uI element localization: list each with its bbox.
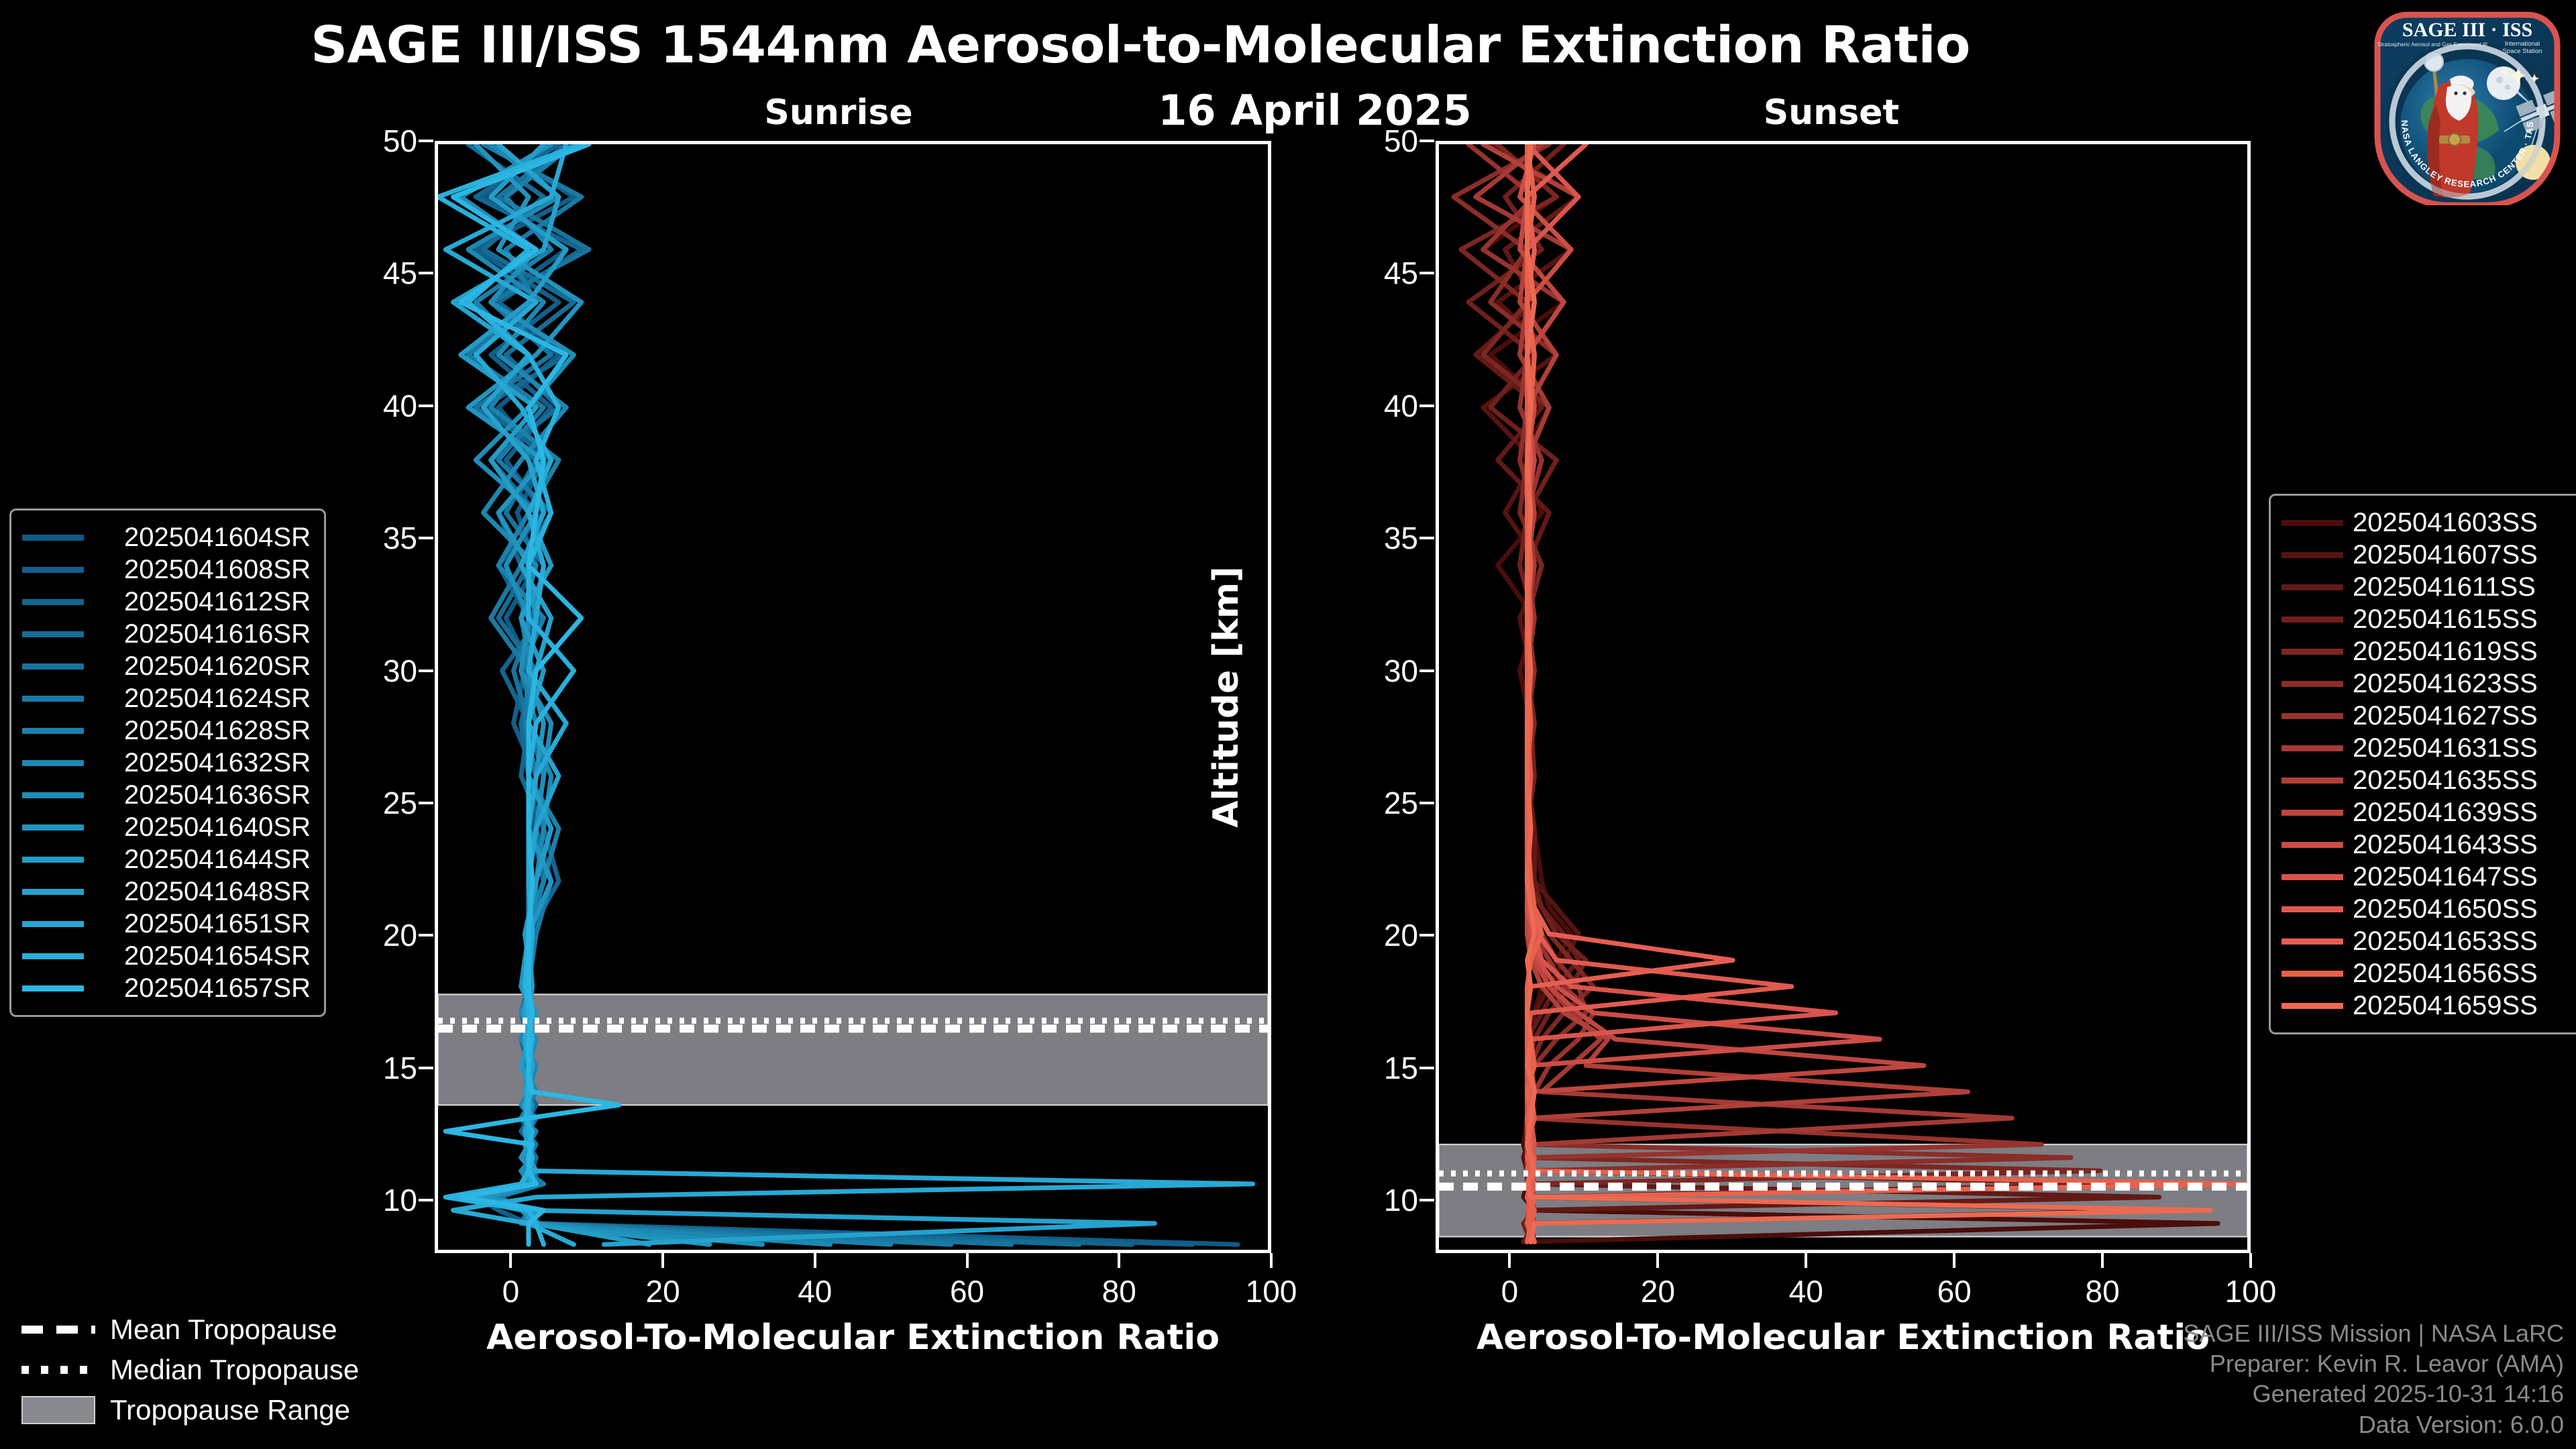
ytick-mark: [1419, 405, 1434, 407]
legend-item-label: 2025041654SR: [84, 941, 311, 971]
xtick-label: 40: [1789, 1273, 1823, 1309]
ytick-label: 20: [383, 917, 417, 953]
legend-row-median-tropopause: Median Tropopause: [11, 1350, 386, 1390]
legend-item[interactable]: 2025041656SS: [2282, 957, 2576, 989]
xtick-mark: [509, 1253, 512, 1268]
legend-item[interactable]: 2025041619SS: [2282, 635, 2576, 667]
legend-item[interactable]: 2025041653SS: [2282, 925, 2576, 957]
legend-item[interactable]: 2025041607SS: [2282, 539, 2576, 571]
legend-item-label: 2025041627SS: [2343, 701, 2576, 731]
legend-item[interactable]: 2025041604SR: [22, 521, 311, 553]
ytick-mark: [1419, 934, 1434, 936]
legend-item-label: 2025041635SS: [2343, 765, 2576, 796]
legend-item-label: 2025041656SS: [2343, 959, 2576, 989]
legend-color-swatch: [2282, 713, 2343, 719]
xtick-mark: [814, 1253, 816, 1268]
legend-color-swatch: [22, 631, 84, 637]
legend-item[interactable]: 2025041639SS: [2282, 796, 2576, 828]
legend-label-median-tropopause: Median Tropopause: [95, 1354, 359, 1386]
legend-item[interactable]: 2025041627SS: [2282, 700, 2576, 732]
legend-item-label: 2025041623SS: [2343, 669, 2576, 699]
legend-item[interactable]: 2025041647SS: [2282, 861, 2576, 893]
xtick-label: 100: [2225, 1273, 2277, 1309]
xtick-label: 80: [2085, 1273, 2119, 1309]
legend-item[interactable]: 2025041632SR: [22, 747, 311, 779]
legend-sunset[interactable]: 2025041603SS2025041607SS2025041611SS2025…: [2269, 494, 2576, 1034]
xtick-mark: [1656, 1253, 1659, 1268]
sage-iii-iss-mission-patch-logo: SAGE III · ISS Stratospheric Aerosol and…: [2367, 4, 2568, 205]
ytick-label: 25: [1384, 785, 1418, 821]
xtick-mark: [1805, 1253, 1807, 1268]
dashed-line-icon: [21, 1320, 95, 1340]
legend-item[interactable]: 2025041651SR: [22, 908, 311, 940]
series-line: [1476, 144, 2189, 1242]
legend-item[interactable]: 2025041636SR: [22, 779, 311, 811]
legend-item-label: 2025041624SR: [84, 684, 311, 714]
ytick-mark: [1419, 272, 1434, 274]
series-line: [1527, 144, 2247, 1242]
legend-color-swatch: [22, 696, 84, 702]
ytick-mark: [1419, 669, 1434, 672]
logo-subtitle-right-2: Space Station: [2502, 48, 2542, 55]
legend-item[interactable]: 2025041654SR: [22, 940, 311, 972]
legend-item-label: 2025041611SS: [2343, 572, 2576, 602]
legend-item[interactable]: 2025041659SS: [2282, 989, 2576, 1022]
xaxis-title-sunset: Aerosol-To-Molecular Extinction Ratio: [1436, 1318, 2251, 1358]
ytick-mark: [1419, 140, 1434, 142]
legend-color-swatch: [2282, 649, 2343, 655]
legend-color-swatch: [22, 728, 84, 734]
series-line: [1476, 144, 2159, 1242]
legend-item-label: 2025041603SS: [2343, 508, 2576, 538]
legend-color-swatch: [2282, 681, 2343, 687]
ytick-mark: [1419, 802, 1434, 804]
ytick-mark: [419, 1067, 433, 1069]
ytick-label: 30: [383, 653, 417, 689]
xtick-mark: [2249, 1253, 2252, 1268]
legend-color-swatch: [2282, 520, 2343, 526]
xtick-label: 20: [645, 1273, 680, 1309]
xtick-label: 20: [1641, 1273, 1675, 1309]
legend-item[interactable]: 2025041616SR: [22, 618, 311, 650]
legend-color-swatch: [22, 953, 84, 959]
legend-sunrise[interactable]: 2025041604SR2025041608SR2025041612SR2025…: [9, 508, 326, 1017]
plot-canvas-sunset: [1439, 144, 2247, 1250]
legend-item-label: 2025041640SR: [84, 812, 311, 843]
legend-item[interactable]: 2025041631SS: [2282, 732, 2576, 764]
legend-item-label: 2025041639SS: [2343, 798, 2576, 828]
ytick-label: 15: [383, 1050, 417, 1086]
plot-frame-sunrise: [435, 141, 1271, 1253]
ytick-label: 30: [1384, 653, 1418, 689]
legend-color-swatch: [22, 824, 84, 830]
legend-color-swatch: [22, 857, 84, 863]
xtick-mark: [1270, 1253, 1273, 1268]
xtick-label: 0: [502, 1273, 520, 1309]
legend-item-label: 2025041612SR: [84, 587, 311, 617]
ytick-mark: [419, 537, 433, 539]
legend-color-swatch: [22, 760, 84, 766]
legend-item[interactable]: 2025041624SR: [22, 682, 311, 714]
legend-label-tropopause-range: Tropopause Range: [95, 1394, 350, 1426]
legend-item[interactable]: 2025041644SR: [22, 843, 311, 875]
legend-color-swatch: [2282, 584, 2343, 590]
legend-item[interactable]: 2025041623SS: [2282, 667, 2576, 700]
legend-color-swatch: [22, 792, 84, 798]
legend-color-swatch: [2282, 777, 2343, 784]
page-title: SAGE III/ISS 1544nm Aerosol-to-Molecular…: [0, 15, 2281, 74]
ytick-mark: [1419, 537, 1434, 539]
legend-item-label: 2025041644SR: [84, 845, 311, 875]
xtick-mark: [1508, 1253, 1511, 1268]
legend-label-mean-tropopause: Mean Tropopause: [95, 1313, 337, 1346]
legend-color-swatch: [2282, 552, 2343, 558]
legend-item-label: 2025041636SR: [84, 780, 311, 810]
ytick-mark: [419, 934, 433, 936]
legend-color-swatch: [22, 985, 84, 991]
legend-item[interactable]: 2025041657SR: [22, 972, 311, 1004]
xtick-mark: [1953, 1253, 1955, 1268]
legend-item-label: 2025041647SS: [2343, 862, 2576, 892]
series-line: [1520, 144, 1880, 1242]
legend-color-swatch: [2282, 1003, 2343, 1009]
footer-credits: SAGE III/ISS Mission | NASA LaRC Prepare…: [2183, 1318, 2564, 1440]
legend-item[interactable]: 2025041650SS: [2282, 893, 2576, 925]
legend-item[interactable]: 2025041615SS: [2282, 603, 2576, 635]
ytick-label: 35: [383, 520, 417, 556]
legend-item-label: 2025041620SR: [84, 651, 311, 682]
plot-frame-sunset: [1436, 141, 2251, 1253]
legend-item-label: 2025041616SR: [84, 619, 311, 649]
footer-line-preparer: Preparer: Kevin R. Leavor (AMA): [2183, 1348, 2564, 1379]
ytick-label: 50: [383, 123, 417, 159]
legend-color-swatch: [2282, 842, 2343, 848]
logo-subtitle-right-1: International: [2505, 40, 2540, 48]
legend-item[interactable]: 2025041648SR: [22, 875, 311, 908]
xtick-mark: [2101, 1253, 2104, 1268]
legend-color-swatch: [2282, 874, 2343, 880]
tropopause-range-band: [438, 994, 1268, 1105]
legend-color-swatch: [2282, 971, 2343, 977]
sunset-heading: Sunset: [1677, 93, 1986, 133]
xtick-label: 100: [1246, 1273, 1297, 1309]
legend-color-swatch: [22, 535, 84, 541]
ytick-label: 15: [1384, 1050, 1418, 1086]
legend-color-swatch: [22, 599, 84, 605]
legend-item-label: 2025041615SS: [2343, 604, 2576, 635]
ytick-mark: [419, 802, 433, 804]
legend-color-swatch: [2282, 745, 2343, 751]
legend-item-label: 2025041607SS: [2343, 540, 2576, 570]
legend-color-swatch: [22, 889, 84, 895]
ytick-label: 40: [1384, 388, 1418, 424]
footer-line-mission: SAGE III/ISS Mission | NASA LaRC: [2183, 1318, 2564, 1348]
legend-item[interactable]: 2025041611SS: [2282, 571, 2576, 603]
legend-item-label: 2025041651SR: [84, 909, 311, 939]
date-subtitle: 16 April 2025: [1127, 86, 1503, 135]
ytick-label: 45: [1384, 255, 1418, 291]
logo-title: SAGE III · ISS: [2402, 19, 2532, 41]
legend-item[interactable]: 2025041643SS: [2282, 828, 2576, 861]
ytick-mark: [419, 405, 433, 407]
chart-panel-sunrise: 101520253035404550020406080100 Aerosol-T…: [435, 141, 1271, 1253]
legend-item-label: 2025041632SR: [84, 748, 311, 778]
plot-canvas-sunrise: [438, 144, 1268, 1250]
ytick-label: 25: [383, 785, 417, 821]
footer-line-data-version: Data Version: 6.0.0: [2183, 1409, 2564, 1440]
legend-item-label: 2025041631SS: [2343, 733, 2576, 763]
xtick-mark: [1118, 1253, 1120, 1268]
ytick-label: 45: [383, 255, 417, 291]
legend-item-label: 2025041608SR: [84, 555, 311, 585]
legend-item[interactable]: 2025041628SR: [22, 714, 311, 747]
legend-item[interactable]: 2025041608SR: [22, 553, 311, 586]
legend-row-tropopause-range: Tropopause Range: [11, 1390, 386, 1430]
ytick-mark: [1419, 1199, 1434, 1201]
legend-item-label: 2025041659SS: [2343, 991, 2576, 1021]
legend-item-label: 2025041643SS: [2343, 830, 2576, 860]
xtick-label: 0: [1501, 1273, 1519, 1309]
series-line: [1468, 144, 2130, 1242]
legend-color-swatch: [2282, 810, 2343, 816]
tropopause-legend: Mean Tropopause Median Tropopause Tropop…: [11, 1309, 386, 1430]
legend-item-label: 2025041650SS: [2343, 894, 2576, 924]
ytick-mark: [419, 669, 433, 672]
xtick-mark: [966, 1253, 969, 1268]
legend-color-swatch: [2282, 938, 2343, 945]
xtick-mark: [661, 1253, 664, 1268]
legend-item-label: 2025041653SS: [2343, 926, 2576, 957]
legend-item[interactable]: 2025041635SS: [2282, 764, 2576, 796]
series-line: [1520, 144, 1925, 1242]
legend-color-swatch: [2282, 616, 2343, 623]
series-line: [1527, 144, 2210, 1242]
legend-item[interactable]: 2025041620SR: [22, 650, 311, 682]
xaxis-title-sunrise: Aerosol-To-Molecular Extinction Ratio: [435, 1318, 1271, 1358]
ytick-mark: [419, 140, 433, 142]
xtick-label: 40: [798, 1273, 832, 1309]
legend-item-label: 2025041657SR: [84, 973, 311, 1004]
legend-color-swatch: [22, 921, 84, 927]
legend-item[interactable]: 2025041640SR: [22, 811, 311, 843]
sunrise-heading: Sunrise: [684, 93, 993, 133]
legend-item-label: 2025041619SS: [2343, 637, 2576, 667]
legend-row-mean-tropopause: Mean Tropopause: [11, 1309, 386, 1350]
xtick-label: 60: [1937, 1273, 1972, 1309]
legend-color-swatch: [22, 663, 84, 669]
footer-line-generated: Generated 2025-10-31 14:16: [2183, 1379, 2564, 1409]
shaded-band-icon: [21, 1400, 95, 1420]
ytick-label: 10: [1384, 1182, 1418, 1218]
legend-color-swatch: [22, 567, 84, 573]
legend-item[interactable]: 2025041603SS: [2282, 506, 2576, 539]
ytick-mark: [1419, 1067, 1434, 1069]
ytick-label: 50: [1384, 123, 1418, 159]
ytick-mark: [419, 272, 433, 274]
ytick-label: 40: [383, 388, 417, 424]
series-line: [1483, 144, 2218, 1242]
logo-subtitle-left: Stratospheric Aerosol and Gas Experiment…: [2377, 42, 2487, 48]
ytick-label: 20: [1384, 917, 1418, 953]
legend-item-label: 2025041604SR: [84, 523, 311, 553]
xtick-label: 80: [1102, 1273, 1136, 1309]
ytick-mark: [419, 1199, 433, 1201]
xtick-label: 60: [950, 1273, 984, 1309]
ytick-label: 10: [383, 1182, 417, 1218]
legend-item-label: 2025041648SR: [84, 877, 311, 907]
legend-item-label: 2025041628SR: [84, 716, 311, 746]
legend-color-swatch: [2282, 906, 2343, 912]
legend-item[interactable]: 2025041612SR: [22, 586, 311, 618]
chart-panel-sunset: 101520253035404550020406080100 Aerosol-T…: [1436, 141, 2251, 1253]
yaxis-title-sunset: Altitude [km]: [1206, 563, 1246, 831]
ytick-label: 35: [1384, 520, 1418, 556]
dotted-line-icon: [21, 1360, 95, 1380]
